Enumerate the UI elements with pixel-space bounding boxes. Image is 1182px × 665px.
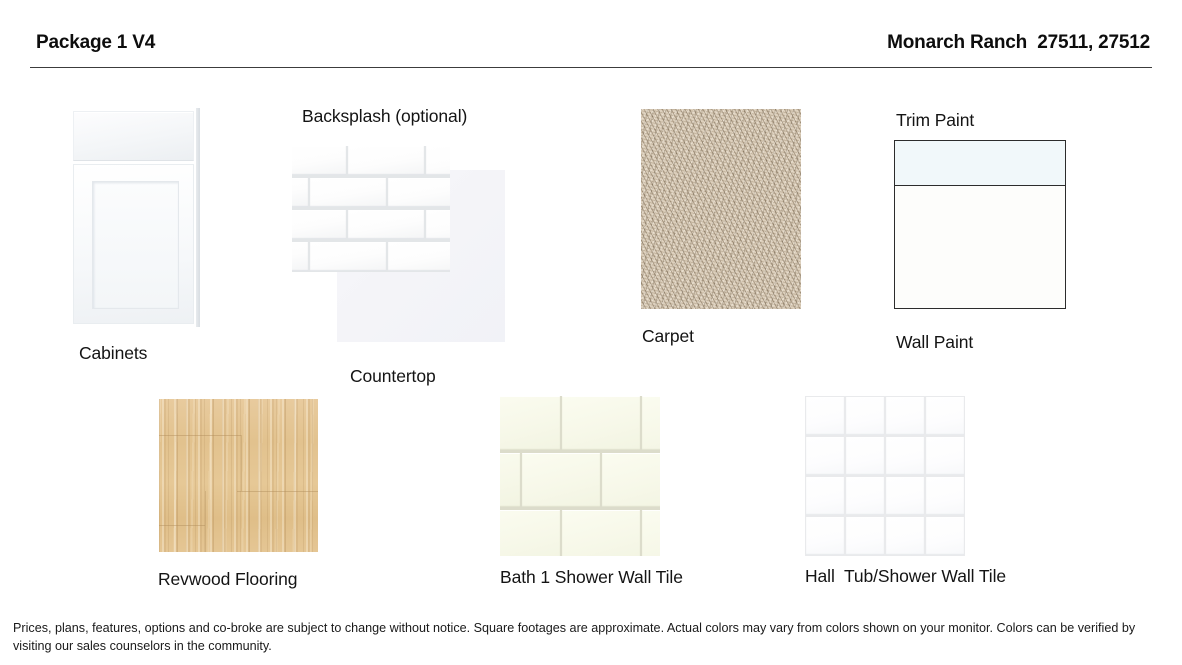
hall-tile — [886, 517, 924, 555]
paint-swatch-group[interactable] — [894, 140, 1066, 309]
backsplash-tile — [292, 242, 308, 271]
carpet-fiber-overlay — [641, 109, 801, 309]
page-title: Package 1 V4 — [36, 32, 155, 54]
hall-tile — [806, 397, 844, 435]
backsplash-tile — [388, 242, 450, 271]
bath1-tile-row — [500, 396, 660, 452]
hall-tile — [846, 437, 884, 475]
cabinet-shaker-panel — [92, 181, 179, 309]
cabinets-label: Cabinets — [79, 343, 147, 364]
backsplash-tile — [310, 178, 386, 207]
bath1-shower-wall-tile-swatch[interactable] — [500, 396, 660, 556]
trim-paint-label: Trim Paint — [896, 110, 974, 131]
wood-plank-seam — [159, 435, 241, 436]
cabinet-side-edge — [196, 108, 200, 327]
backsplash-tile-row — [292, 210, 450, 241]
hall-tile — [926, 517, 964, 555]
wall-paint-label: Wall Paint — [896, 332, 973, 353]
bath1-shower-wall-tile-label: Bath 1 Shower Wall Tile — [500, 567, 683, 588]
backsplash-tile — [292, 146, 346, 175]
wall-paint-chip[interactable] — [895, 187, 1065, 308]
bath1-tile — [562, 396, 640, 450]
hall-tile — [926, 477, 964, 515]
bath1-tile-row — [500, 453, 660, 509]
hall-tub-shower-wall-tile-label: Hall Tub/Shower Wall Tile — [805, 566, 1006, 587]
backsplash-tile — [348, 210, 424, 239]
bath1-tile — [500, 510, 560, 556]
bath1-tile-row — [500, 510, 660, 556]
hall-tile — [806, 437, 844, 475]
backsplash-tile — [348, 146, 424, 175]
bath1-tile — [562, 510, 640, 556]
backsplash-tile-row — [292, 178, 450, 209]
backsplash-tile — [310, 242, 386, 271]
hall-tile — [886, 477, 924, 515]
hall-tile — [806, 477, 844, 515]
backsplash-tile — [426, 146, 450, 175]
cabinet-drawer-front — [73, 111, 194, 161]
bath1-tile — [500, 396, 560, 450]
countertop-label: Countertop — [350, 366, 436, 387]
cabinets-swatch[interactable] — [70, 108, 200, 327]
backsplash-tile — [426, 210, 450, 239]
wood-grain-overlay — [159, 399, 318, 552]
community-name: Monarch Ranch 27511, 27512 — [887, 32, 1150, 54]
wood-plank-butt-joint — [241, 435, 242, 491]
hall-tile — [886, 437, 924, 475]
carpet-swatch[interactable] — [641, 109, 801, 309]
disclaimer-text: Prices, plans, features, options and co-… — [13, 620, 1165, 655]
bath1-tile — [500, 453, 520, 507]
bath1-tile — [642, 396, 660, 450]
wood-plank-butt-joint — [205, 491, 206, 552]
hall-tile — [846, 517, 884, 555]
bath1-tile — [642, 510, 660, 556]
header-divider — [30, 67, 1152, 68]
wood-plank-seam — [237, 491, 318, 492]
hall-tile — [846, 397, 884, 435]
backsplash-tile-row — [292, 242, 450, 272]
carpet-label: Carpet — [642, 326, 694, 347]
backsplash-label: Backsplash (optional) — [302, 106, 467, 127]
backsplash-tile — [388, 178, 450, 207]
backsplash-tile — [292, 178, 308, 207]
hall-tile — [886, 397, 924, 435]
trim-paint-chip[interactable] — [895, 141, 1065, 186]
hall-tile — [806, 517, 844, 555]
cabinet-door-front — [73, 164, 194, 324]
bath1-tile — [602, 453, 660, 507]
wood-plank-seam — [159, 525, 205, 526]
backsplash-tile — [292, 210, 346, 239]
hall-tile — [926, 437, 964, 475]
hall-tub-shower-wall-tile-swatch[interactable] — [805, 396, 965, 556]
bath1-tile — [522, 453, 600, 507]
backsplash-swatch[interactable] — [292, 146, 450, 272]
hall-tile — [926, 397, 964, 435]
backsplash-tile-row — [292, 146, 450, 177]
page-header: Package 1 V4 Monarch Ranch 27511, 27512 — [0, 0, 1182, 68]
revwood-flooring-swatch[interactable] — [159, 399, 318, 552]
hall-tile — [846, 477, 884, 515]
revwood-flooring-label: Revwood Flooring — [158, 569, 297, 590]
